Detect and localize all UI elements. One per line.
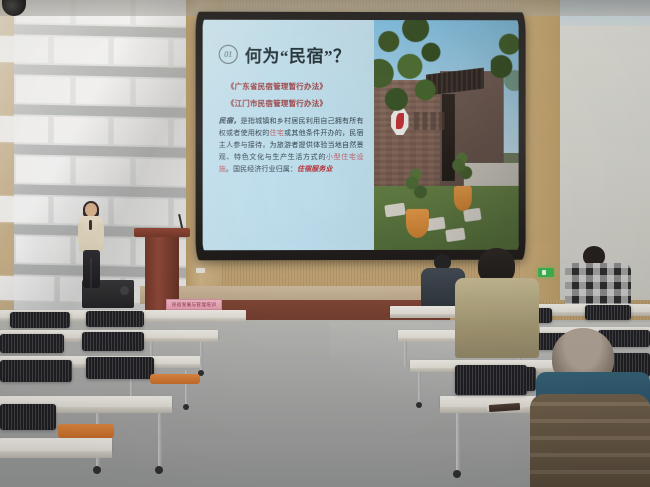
- slide-section-number: 01: [219, 45, 238, 64]
- chair-left-row-4a: [10, 312, 70, 328]
- desk-leg: [404, 341, 407, 367]
- projection-screen: 01 何为“民宿”？ 《广东省民宿管理暂行办法》 《江门市民宿管理暂行办法》 民…: [196, 12, 526, 261]
- desk-foreground-left: [0, 438, 112, 487]
- photo-planter-pot: [406, 209, 429, 239]
- slide-reference-2: 《江门市民宿管理暂行办法》: [227, 98, 364, 109]
- attendee-brown-puffer: [530, 328, 650, 487]
- attendee-tan-jacket: [455, 248, 539, 358]
- presentation-room-photo: 01 何为“民宿”？ 《广东省民宿管理暂行办法》 《江门市民宿管理暂行办法》 民…: [0, 0, 650, 487]
- desk-surface: [0, 438, 112, 452]
- desk-leg: [456, 413, 460, 473]
- presentation-slide: 01 何为“民宿”？ 《广东省民宿管理暂行办法》 《江门市民宿管理暂行办法》 民…: [203, 20, 519, 251]
- presenter-arm-left: [78, 223, 85, 245]
- attendee-jacket: [455, 278, 539, 358]
- speaker-podium: [138, 228, 186, 310]
- event-banner-text: 民宿发展与管理培训: [172, 302, 216, 308]
- attendee-puffer-jacket: [530, 394, 650, 487]
- desk-edge: [0, 451, 112, 458]
- attendee-plaid-shirt: [565, 246, 631, 310]
- screen-surface: 01 何为“民宿”？ 《广东省民宿管理暂行办法》 《江门市民宿管理暂行办法》 民…: [203, 20, 519, 251]
- chair-left-row-1: [0, 404, 56, 430]
- desk-caster: [453, 470, 461, 478]
- chair-left-row-2b: [86, 357, 154, 379]
- slide-body-highlight-1: 住宅: [270, 129, 285, 137]
- presenter-arm-right: [97, 223, 104, 245]
- desk-caster: [155, 466, 163, 474]
- photo-tree-right: [491, 30, 519, 100]
- chair-backrest: [86, 357, 154, 379]
- wall-switch-plate: [196, 268, 205, 273]
- desk-caster: [416, 402, 422, 408]
- attendee-plaid-jacket: [565, 263, 631, 310]
- chair-seat-orange: [150, 374, 200, 384]
- chair-backrest: [82, 332, 144, 351]
- photo-tree-left: [374, 20, 456, 130]
- chair-left-row-2a: [0, 360, 72, 382]
- chair-left-row-3a: [0, 334, 64, 353]
- photo-shrub: [397, 163, 435, 214]
- slide-body-text: 民宿，是指城镇和乡村居民利用自己拥有所有权或者使用权的住宅或其他条件开办的，民宿…: [219, 115, 364, 175]
- chair-backrest: [585, 305, 631, 320]
- slide-photo-guesthouse: [374, 20, 519, 250]
- chair-backrest: [0, 360, 72, 382]
- desk-leg: [158, 413, 162, 469]
- event-banner: 民宿发展与管理培训: [166, 299, 222, 310]
- handheld-microphone: [89, 220, 92, 230]
- slide-heading: 01 何为“民宿”？: [219, 42, 364, 67]
- slide-body-part-3: 。国民经济行业归属：: [226, 165, 297, 173]
- slide-reference-1: 《广东省民宿管理暂行办法》: [227, 81, 364, 92]
- photo-shrub: [446, 149, 478, 190]
- chair-backrest: [0, 334, 64, 353]
- chair-seat-orange: [58, 424, 114, 438]
- desk-caster: [183, 404, 189, 410]
- chair-backrest: [86, 311, 144, 327]
- desk-leg: [418, 372, 421, 404]
- chair-left-row-4b: [86, 311, 144, 327]
- slide-text-column: 01 何为“民宿”？ 《广东省民宿管理暂行办法》 《江门市民宿管理暂行办法》 民…: [203, 20, 374, 251]
- chair-backrest: [455, 365, 527, 395]
- photo-planter-pot: [453, 186, 472, 211]
- desk-leg: [200, 342, 203, 372]
- chair-backrest: [0, 404, 56, 430]
- chair-left-row-3b: [82, 332, 144, 351]
- presenter-speaker: [76, 203, 106, 288]
- presenter-trousers: [83, 250, 100, 288]
- emergency-exit-sign: [538, 268, 554, 277]
- chair-row-4b: [585, 305, 631, 320]
- slide-title: 何为“民宿”？: [245, 42, 351, 67]
- chair-foreground-right: [455, 365, 527, 395]
- podium-top: [134, 228, 190, 237]
- slide-body-highlight-3: 住宿服务业: [297, 165, 333, 173]
- slide-body-lead: 民宿，: [219, 117, 241, 125]
- chair-backrest: [10, 312, 70, 328]
